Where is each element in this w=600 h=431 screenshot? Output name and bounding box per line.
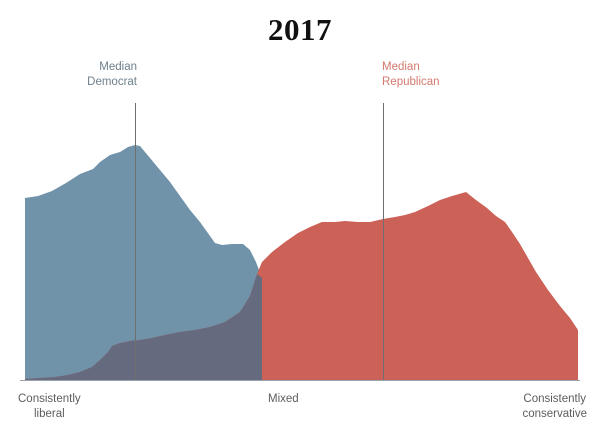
axis-label-mixed: Mixed: [268, 392, 299, 407]
ideological-distribution-chart: 2017 Median Democrat Median Republican C…: [0, 0, 600, 431]
axis-label-consistently-liberal: Consistently liberal: [18, 392, 81, 421]
median-republican-label: Median Republican: [382, 60, 440, 89]
axis-label-consistently-conservative: Consistently conservative: [522, 392, 587, 421]
median-democrat-label: Median Democrat: [87, 60, 137, 89]
